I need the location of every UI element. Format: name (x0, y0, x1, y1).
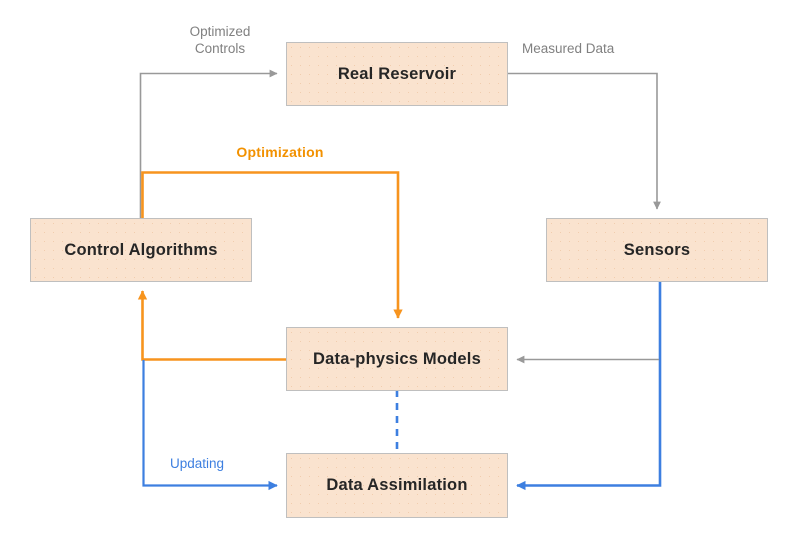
edge-label-measured-data: Measured Data (522, 41, 662, 58)
edge-models-to-control (143, 291, 287, 360)
node-real-reservoir[interactable]: Real Reservoir (286, 42, 508, 106)
edge-reservoir-to-sensors (508, 74, 657, 210)
node-control-algorithms[interactable]: Control Algorithms (30, 218, 252, 282)
node-label: Control Algorithms (64, 241, 217, 260)
edge-label-updating: Updating (170, 456, 280, 473)
node-sensors[interactable]: Sensors (546, 218, 768, 282)
edge-sensors-to-assimilation (517, 282, 660, 486)
node-label: Data Assimilation (326, 476, 467, 495)
node-data-assimilation[interactable]: Data Assimilation (286, 453, 508, 518)
node-label: Sensors (624, 241, 691, 260)
node-label: Data-physics Models (313, 350, 481, 369)
node-label: Real Reservoir (338, 65, 456, 84)
edge-label-optimization: Optimization (160, 144, 400, 162)
node-data-physics-models[interactable]: Data-physics Models (286, 327, 508, 391)
edge-label-optimized-controls: Optimized Controls (160, 24, 280, 58)
diagram-canvas: Real Reservoir Sensors Control Algorithm… (0, 0, 800, 539)
